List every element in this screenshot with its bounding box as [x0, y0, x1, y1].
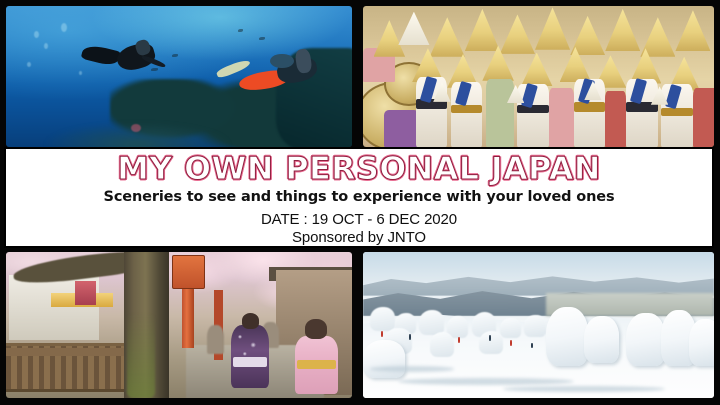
dancer [605, 91, 626, 147]
reef-foreground [34, 119, 242, 147]
fence-rail [6, 348, 131, 355]
page-title: MY OWN PERSONAL JAPAN [117, 154, 601, 185]
awa-odori-festival-photo [363, 6, 714, 147]
woman-in-kimono [290, 319, 345, 398]
shop-banner [75, 281, 96, 304]
snow-monster [626, 313, 665, 366]
campaign-banner: MY OWN PERSONAL JAPAN Sceneries to see a… [4, 147, 714, 248]
scuba-diving-photo [6, 6, 352, 147]
japan-campaign-poster: MY OWN PERSONAL JAPAN Sceneries to see a… [0, 0, 720, 405]
cherry-blossom-street-photo [6, 252, 352, 398]
trunk-moss [127, 313, 155, 398]
dancer [486, 79, 514, 147]
dancer [549, 88, 574, 147]
woman-in-kimono [224, 313, 276, 398]
snow-monster [546, 307, 588, 365]
banner-subtitle: Sceneries to see and things to experienc… [104, 189, 615, 205]
dancer [693, 88, 714, 147]
snow-monsters-photo [363, 252, 714, 398]
snow-monster [363, 340, 405, 378]
lantern-sign [172, 255, 205, 289]
campaign-date: DATE : 19 OCT - 6 DEC 2020 [261, 211, 457, 228]
diver-silhouette [89, 37, 172, 82]
diver-orange-suit [214, 45, 332, 104]
snow-monster [584, 316, 619, 363]
sky [363, 252, 714, 281]
snow-monster [689, 319, 714, 366]
campaign-sponsor: Sponsored by JNTO [292, 229, 426, 246]
